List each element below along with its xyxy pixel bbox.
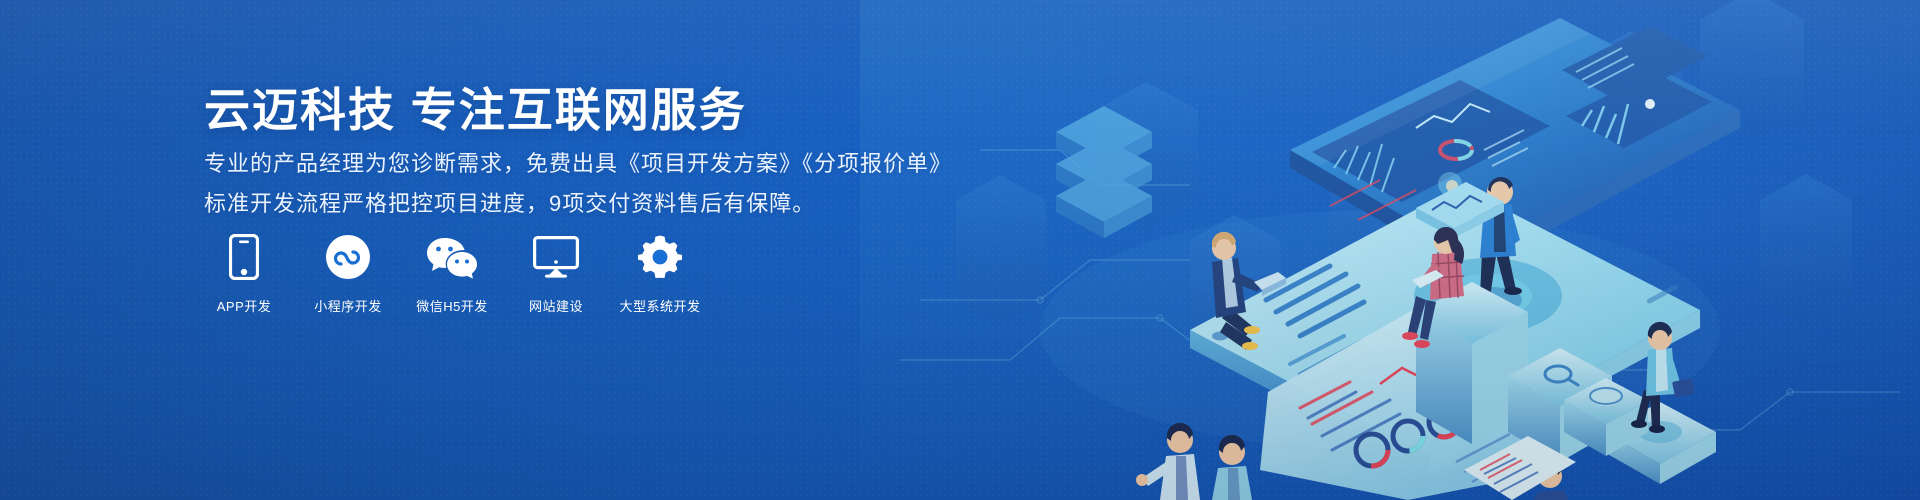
desktop-monitor-icon (518, 232, 594, 282)
service-item-wechat-h5[interactable]: 微信H5开发 (414, 232, 490, 315)
gear-icon (622, 232, 698, 282)
service-label: APP开发 (217, 296, 272, 315)
service-label: 小程序开发 (314, 296, 382, 315)
banner-subtitle-line1: 专业的产品经理为您诊断需求，免费出具《项目开发方案》《分项报价单》 (204, 146, 952, 178)
page-title: 云迈科技 专注互联网服务 (204, 74, 747, 140)
banner-copy: 云迈科技 专注互联网服务 专业的产品经理为您诊断需求，免费出具《项目开发方案》《… (204, 0, 924, 500)
service-item-large-system[interactable]: 大型系统开发 (622, 232, 698, 315)
wechat-icon (414, 232, 490, 282)
service-label: 微信H5开发 (416, 296, 488, 315)
service-list: APP开发 小程序开发 (206, 232, 698, 315)
banner-subtitle-line2: 标准开发流程严格把控项目进度，9项交付资料售后有保障。 (204, 186, 815, 218)
hero-banner: 云迈科技 专注互联网服务 专业的产品经理为您诊断需求，免费出具《项目开发方案》《… (0, 0, 1920, 500)
service-item-website[interactable]: 网站建设 (518, 232, 594, 315)
mini-program-icon (310, 232, 386, 282)
mobile-phone-icon (206, 232, 282, 282)
service-label: 网站建设 (529, 296, 583, 315)
service-item-mini-program[interactable]: 小程序开发 (310, 232, 386, 315)
service-label: 大型系统开发 (620, 296, 701, 315)
isometric-illustration (860, 0, 1920, 500)
service-item-app[interactable]: APP开发 (206, 232, 282, 315)
